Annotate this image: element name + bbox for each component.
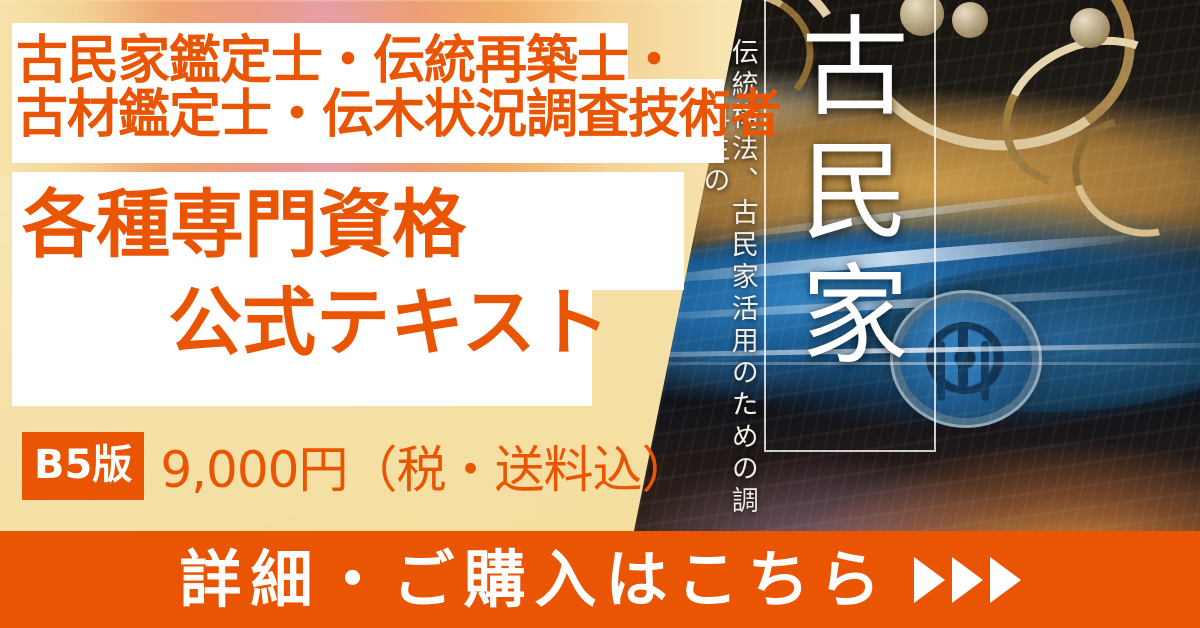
subhead-line-2: 公式テキスト bbox=[168, 284, 610, 364]
price-row: B5版 9,000円（税・送料込） bbox=[22, 430, 690, 502]
book-title-vertical: 古民家 bbox=[790, 10, 898, 382]
format-badge: B5版 bbox=[22, 432, 144, 500]
headline-line-2: 古材鑑定士・伝木状況調査技術者 bbox=[16, 88, 781, 142]
headline-qualifications: 古民家鑑定士・伝統再築士・ 古材鑑定士・伝木状況調査技術者 bbox=[16, 34, 781, 142]
cta-arrows bbox=[914, 557, 1021, 603]
triangle-right-icon bbox=[952, 557, 983, 603]
price-amount: 9,000円（税・送料込） bbox=[160, 430, 690, 502]
cta-label: 詳細・ご購入はこちら bbox=[179, 549, 889, 611]
headline-line-1: 古民家鑑定士・伝統再築士・ bbox=[16, 34, 781, 88]
cta-bar[interactable]: 詳細・ご購入はこちら bbox=[0, 531, 1200, 628]
promo-banner: 古民家 伝統構法、古民家活用のための調査と再生の 古民家鑑定士・伝統再築士・ 古… bbox=[0, 0, 1200, 628]
subhead-line-1: 各種専門資格 bbox=[22, 186, 466, 266]
triangle-right-icon bbox=[990, 557, 1021, 603]
triangle-right-icon bbox=[914, 557, 945, 603]
